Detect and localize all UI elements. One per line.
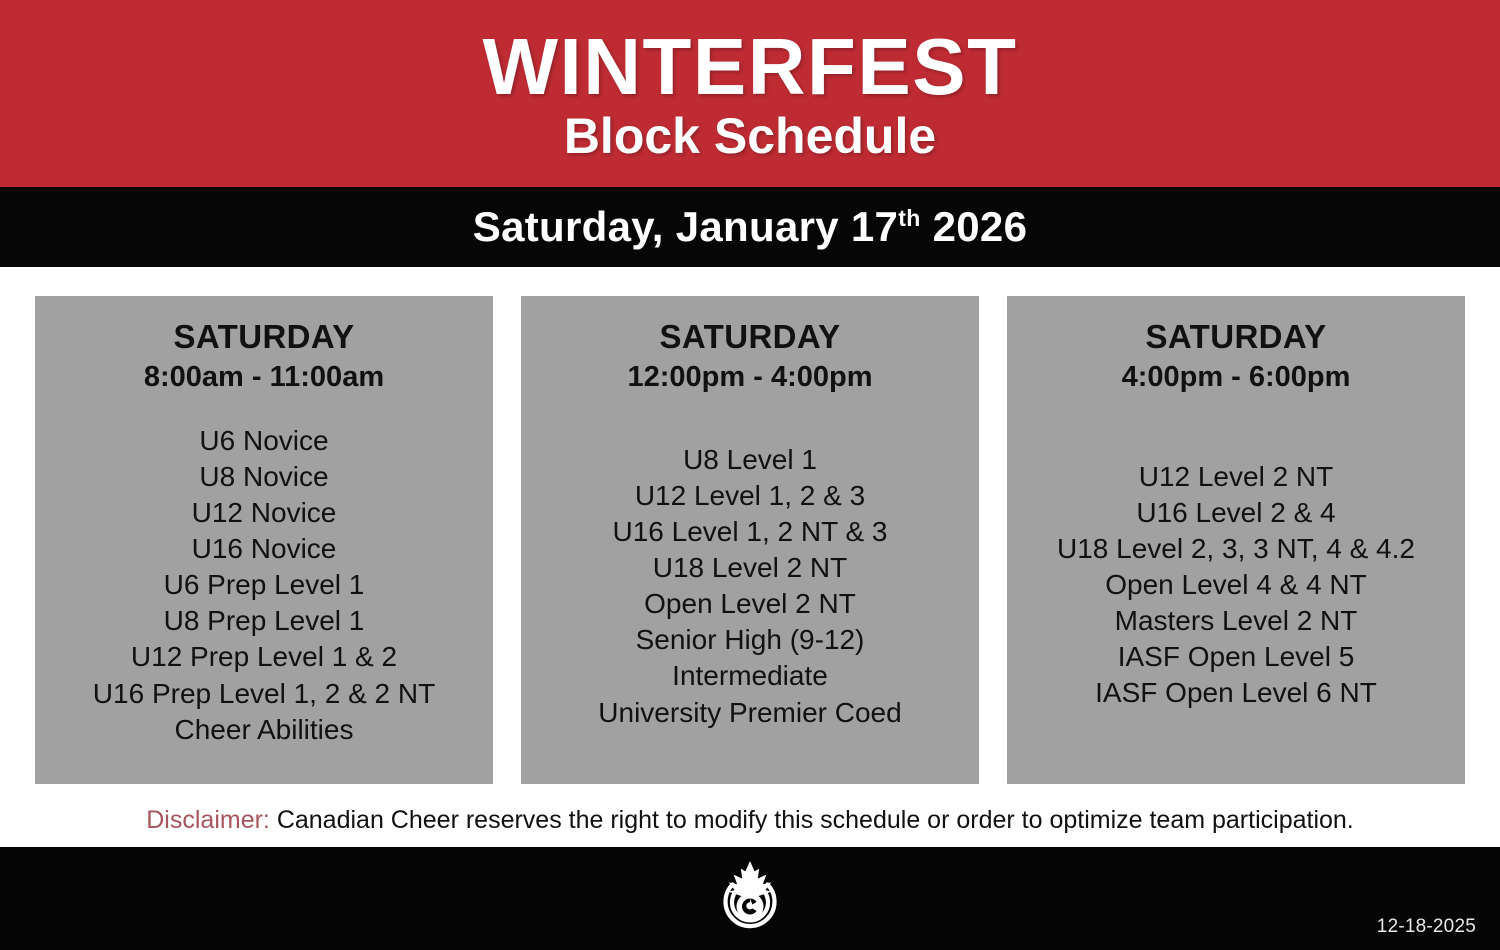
block-2-time: 12:00pm - 4:00pm [531, 360, 969, 395]
division-item: Masters Level 2 NT [1017, 603, 1455, 639]
division-item: U18 Level 2 NT [531, 550, 969, 586]
division-item: U6 Novice [45, 423, 483, 459]
division-item: IASF Open Level 6 NT [1017, 675, 1455, 711]
division-item: U8 Novice [45, 459, 483, 495]
block-1-division-list: U6 Novice U8 Novice U12 Novice U16 Novic… [45, 423, 483, 748]
block-3-division-list: U12 Level 2 NT U16 Level 2 & 4 U18 Level… [1017, 459, 1455, 712]
division-item: U6 Prep Level 1 [45, 567, 483, 603]
event-date: Saturday, January 17th 2026 [473, 203, 1027, 251]
disclaimer-text: Disclaimer: Canadian Cheer reserves the … [146, 806, 1354, 835]
block-3-time: 4:00pm - 6:00pm [1017, 360, 1455, 395]
schedule-block-1: SATURDAY 8:00am - 11:00am U6 Novice U8 N… [35, 296, 493, 784]
block-2-day: SATURDAY [531, 318, 969, 356]
division-item: U12 Level 2 NT [1017, 459, 1455, 495]
division-item: Intermediate [531, 658, 969, 694]
title-band: WINTERFEST Block Schedule [0, 0, 1500, 187]
disclaimer-label: Disclaimer: [146, 806, 270, 834]
division-item: U18 Level 2, 3, 3 NT, 4 & 4.2 [1017, 531, 1455, 567]
block-1-day: SATURDAY [45, 318, 483, 356]
division-item: U16 Prep Level 1, 2 & 2 NT [45, 676, 483, 712]
division-item: Senior High (9-12) [531, 622, 969, 658]
schedule-blocks: SATURDAY 8:00am - 11:00am U6 Novice U8 N… [35, 296, 1465, 784]
division-item: U8 Level 1 [531, 442, 969, 478]
date-band: Saturday, January 17th 2026 [0, 187, 1500, 267]
disclaimer-body: Canadian Cheer reserves the right to mod… [270, 806, 1354, 834]
division-item: Cheer Abilities [45, 712, 483, 748]
block-1-time: 8:00am - 11:00am [45, 360, 483, 395]
block-2-division-list: U8 Level 1 U12 Level 1, 2 & 3 U16 Level … [531, 442, 969, 731]
footer-date-stamp: 12-18-2025 [1377, 916, 1476, 938]
division-item: U8 Prep Level 1 [45, 603, 483, 639]
event-date-year: 2026 [933, 203, 1028, 250]
schedule-block-3: SATURDAY 4:00pm - 6:00pm U12 Level 2 NT … [1007, 296, 1465, 784]
disclaimer-row: Disclaimer: Canadian Cheer reserves the … [0, 794, 1500, 847]
event-subtitle: Block Schedule [564, 110, 936, 163]
division-item: IASF Open Level 5 [1017, 639, 1455, 675]
footer-band: 12-18-2025 [0, 847, 1500, 950]
event-date-main: Saturday, January 17 [473, 203, 898, 250]
schedule-block-2: SATURDAY 12:00pm - 4:00pm U8 Level 1 U12… [521, 296, 979, 784]
division-item: U12 Level 1, 2 & 3 [531, 478, 969, 514]
division-item: U12 Prep Level 1 & 2 [45, 639, 483, 675]
division-item: U16 Level 1, 2 NT & 3 [531, 514, 969, 550]
division-item: Open Level 4 & 4 NT [1017, 567, 1455, 603]
event-date-ordinal: th [898, 205, 920, 231]
event-date-year-spacer [921, 203, 933, 250]
division-item: U16 Novice [45, 531, 483, 567]
block-3-day: SATURDAY [1017, 318, 1455, 356]
division-item: University Premier Coed [531, 695, 969, 731]
event-title: WINTERFEST [483, 28, 1018, 106]
winterfest-block-schedule-poster: WINTERFEST Block Schedule Saturday, Janu… [0, 0, 1500, 950]
division-item: U16 Level 2 & 4 [1017, 495, 1455, 531]
canadian-cheer-logo-icon [712, 859, 788, 939]
division-item: U12 Novice [45, 495, 483, 531]
division-item: Open Level 2 NT [531, 586, 969, 622]
